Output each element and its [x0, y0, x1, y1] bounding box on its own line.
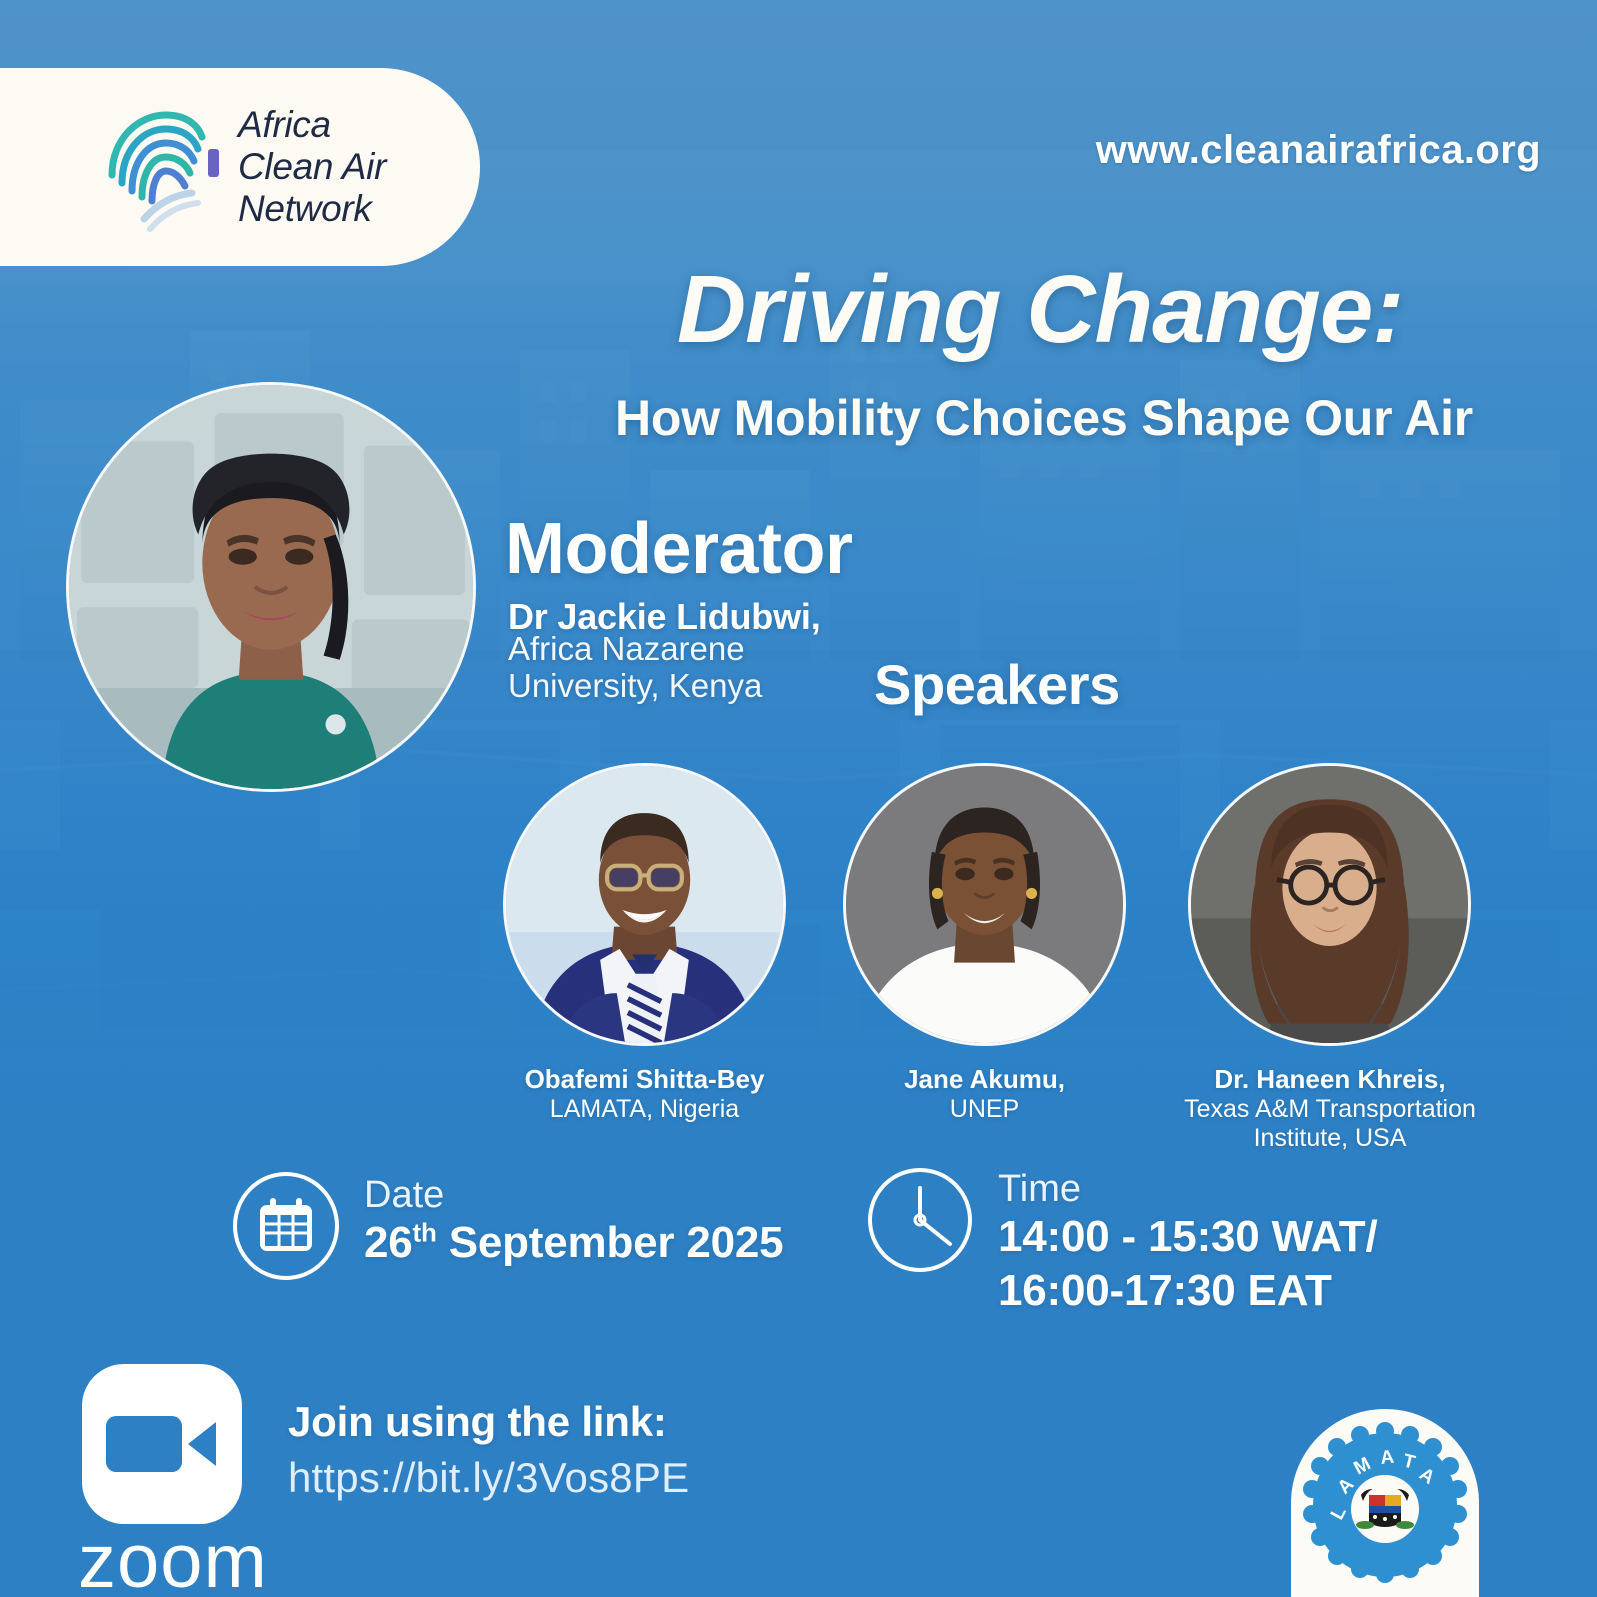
join-url[interactable]: https://bit.ly/3Vos8PE — [288, 1454, 689, 1502]
event-date-day: 26 — [364, 1218, 413, 1267]
speaker-org-1: UNEP — [823, 1095, 1146, 1125]
brand-logo-line3: Network — [238, 188, 386, 230]
event-time-line1: 14:00 - 15:30 WAT/ — [998, 1210, 1378, 1264]
speaker-name-1: Jane Akumu, — [823, 1064, 1146, 1095]
speakers-heading: Speakers — [874, 652, 1120, 717]
event-time-label: Time — [998, 1170, 1378, 1210]
speaker-portrait-1 — [843, 763, 1126, 1046]
event-time-block: Time 14:00 - 15:30 WAT/ 16:00-17:30 EAT — [866, 1166, 1378, 1317]
event-date-block: Date 26th September 2025 — [232, 1172, 783, 1280]
speaker-org-2-line2: Institute, USA — [1160, 1124, 1500, 1154]
brand-logo-panel: Africa Clean Air Network — [0, 68, 480, 266]
moderator-affiliation-line1: Africa Nazarene — [508, 630, 762, 667]
speaker-org-2-line1: Texas A&M Transportation — [1160, 1095, 1500, 1125]
zoom-wordmark: zoom — [78, 1524, 246, 1597]
page-subtitle: How Mobility Choices Shape Our Air — [520, 392, 1568, 445]
speaker-portrait-2 — [1188, 763, 1471, 1046]
event-date-value: 26th September 2025 — [364, 1216, 783, 1270]
speaker-caption-0: Obafemi Shitta-Bey LAMATA, Nigeria — [483, 1064, 806, 1124]
svg-text:A: A — [1379, 1447, 1395, 1469]
page-title: Driving Change: — [520, 262, 1560, 358]
zoom-logo: zoom — [78, 1360, 246, 1597]
speaker-org-0: LAMATA, Nigeria — [483, 1095, 806, 1125]
join-link-block: Join using the link: https://bit.ly/3Vos… — [288, 1398, 689, 1502]
event-date-text: Date 26th September 2025 — [364, 1172, 783, 1270]
brand-logo-line1: Africa — [238, 104, 386, 146]
moderator-affiliation-line2: University, Kenya — [508, 667, 762, 704]
moderator-heading: Moderator — [505, 508, 853, 590]
brand-logo-line2: Clean Air — [238, 146, 386, 188]
speaker-portrait-0 — [503, 763, 786, 1046]
calendar-icon — [232, 1172, 340, 1280]
speaker-name-0: Obafemi Shitta-Bey — [483, 1064, 806, 1095]
clock-icon — [866, 1166, 974, 1274]
moderator-affiliation: Africa Nazarene University, Kenya — [508, 630, 762, 705]
website-url[interactable]: www.cleanairafrica.org — [1096, 128, 1541, 173]
event-date-label: Date — [364, 1176, 783, 1216]
speaker-caption-1: Jane Akumu, UNEP — [823, 1064, 1146, 1124]
event-date-ordinal: th — [413, 1217, 437, 1247]
event-date-rest: September 2025 — [437, 1218, 784, 1267]
brand-logo-wordmark: Africa Clean Air Network — [238, 104, 386, 229]
event-time-text: Time 14:00 - 15:30 WAT/ 16:00-17:30 EAT — [998, 1166, 1378, 1317]
lamata-gear-badge-icon: L A M A T A — [1291, 1409, 1479, 1597]
fingerprint-africa-icon — [100, 101, 222, 233]
moderator-portrait — [66, 382, 476, 792]
speaker-caption-2: Dr. Haneen Khreis, Texas A&M Transportat… — [1160, 1064, 1500, 1154]
webinar-poster: Africa Clean Air Network www.cleanairafr… — [0, 0, 1597, 1597]
zoom-camera-icon — [78, 1360, 246, 1528]
speaker-name-2: Dr. Haneen Khreis, — [1160, 1064, 1500, 1095]
event-time-line2: 16:00-17:30 EAT — [998, 1264, 1378, 1318]
join-label: Join using the link: — [288, 1398, 689, 1446]
